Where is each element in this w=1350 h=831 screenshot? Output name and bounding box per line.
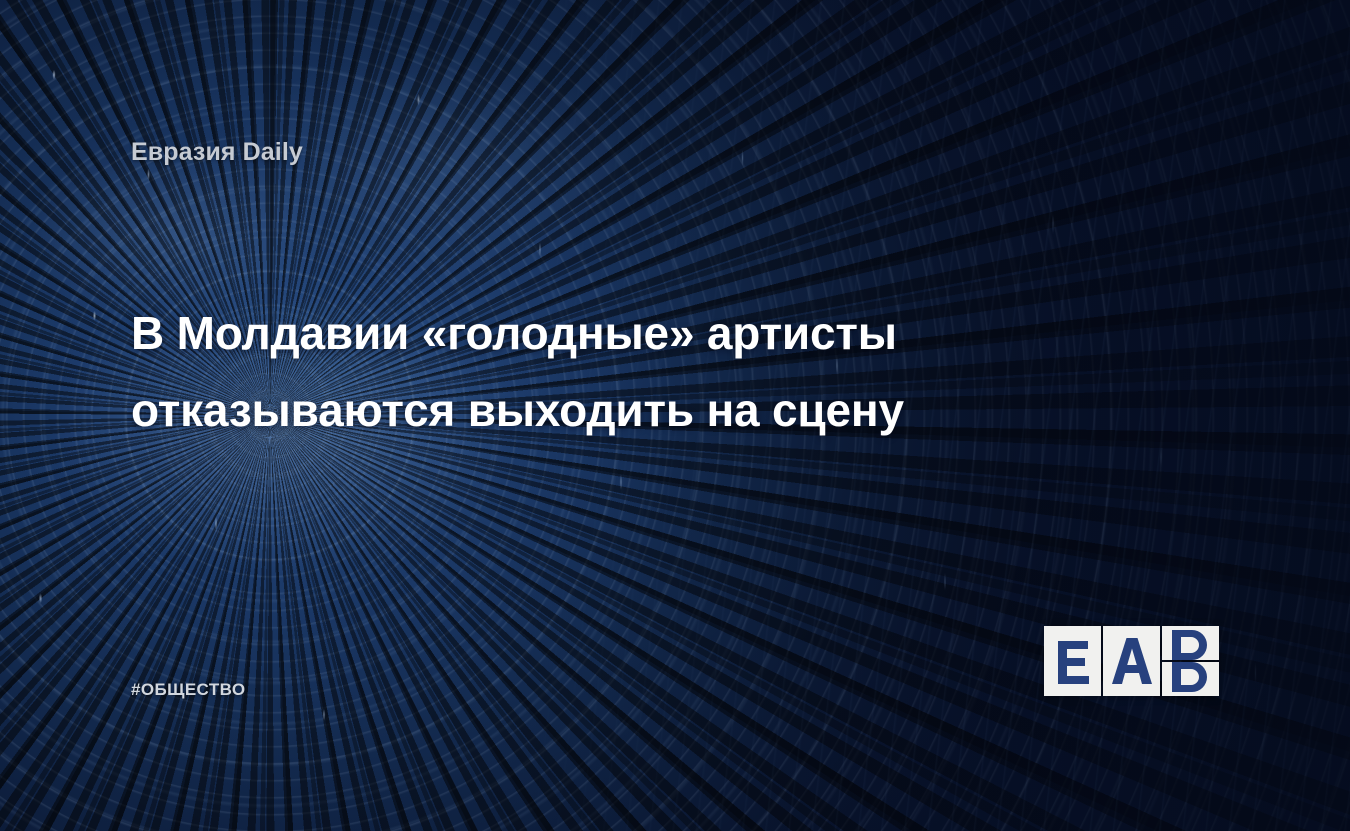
news-card: Евразия Daily В Молдавии «голодные» арти…: [0, 0, 1350, 831]
card-content: Евразия Daily В Молдавии «голодные» арти…: [0, 0, 1350, 831]
eadaily-logo: [1044, 626, 1219, 696]
brand-label: Евразия Daily: [131, 138, 303, 167]
logo-tile-a: [1103, 626, 1160, 696]
logo-tile-e: [1044, 626, 1101, 696]
page-title: В Молдавии «голодные» артисты отказывают…: [131, 295, 1091, 449]
logo-tile-d-stack: [1162, 626, 1219, 696]
category-tag: #ОБЩЕСТВО: [131, 680, 245, 700]
